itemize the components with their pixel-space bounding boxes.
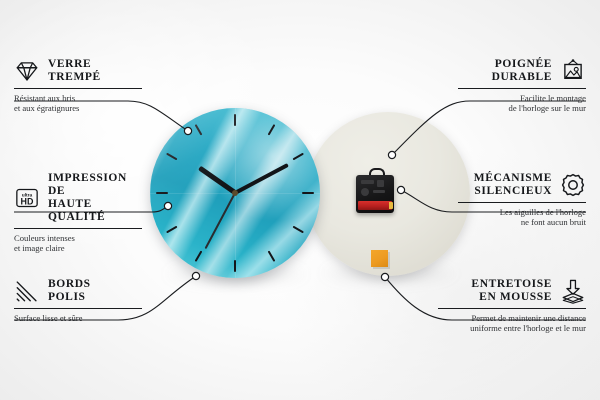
gear-icon: [560, 172, 586, 198]
callout-title: IMPRESSION DE HAUTE QUALITÉ: [48, 172, 142, 224]
callout-desc: Résistant aux bris et aux égratignures: [14, 93, 142, 114]
callout-entretoise-en-mousse: ENTRETOISE EN MOUSSE Permet de maintenir…: [438, 278, 586, 334]
svg-text:HD: HD: [21, 197, 34, 207]
hanging-picture-icon: [560, 58, 586, 84]
battery: [358, 201, 392, 210]
clock-tick: [156, 192, 168, 194]
clock-front-view: [150, 108, 320, 278]
callout-mecanisme-silencieux: MÉCANISME SILENCIEUX Les aiguilles de l'…: [458, 172, 586, 228]
callout-desc: Surface lisse et sûre: [14, 313, 142, 323]
callout-rule: [14, 228, 142, 229]
polished-edge-icon: [14, 278, 40, 304]
ultra-hd-icon: ultra HD: [14, 185, 40, 211]
callout-title: MÉCANISME SILENCIEUX: [474, 172, 552, 198]
callout-desc: Facilite le montage de l'horloge sur le …: [458, 93, 586, 114]
callout-desc: Permet de maintenir une distance uniform…: [438, 313, 586, 334]
callout-bords-polis: BORDS POLIS Surface lisse et sûre: [14, 278, 142, 323]
callout-desc: Couleurs intenses et image claire: [14, 233, 142, 254]
callout-poignee-durable: POIGNÉE DURABLE Facilite le montage de l…: [458, 58, 586, 114]
battery-terminal: [389, 202, 393, 209]
callout-rule: [458, 202, 586, 203]
callout-title: ENTRETOISE EN MOUSSE: [471, 278, 552, 304]
hand-center-cap: [232, 190, 238, 196]
callout-rule: [458, 88, 586, 89]
callout-impression-haute-qualite: ultra HD IMPRESSION DE HAUTE QUALITÉ Cou…: [14, 172, 142, 254]
foam-spacer: [371, 250, 388, 267]
clock-tick: [234, 114, 236, 126]
infographic-canvas: VERRE TREMPÉ Résistant aux bris et aux é…: [0, 0, 600, 400]
callout-rule: [14, 308, 142, 309]
clock-tick: [302, 192, 314, 194]
callout-verre-trempe: VERRE TREMPÉ Résistant aux bris et aux é…: [14, 58, 142, 114]
callout-rule: [438, 308, 586, 309]
diamond-icon: [14, 58, 40, 84]
callout-title: VERRE TREMPÉ: [48, 58, 101, 84]
foam-spacer-icon: [560, 278, 586, 304]
callout-desc: Les aiguilles de l'horloge ne font aucun…: [458, 207, 586, 228]
callout-rule: [14, 88, 142, 89]
callout-title: BORDS POLIS: [48, 278, 91, 304]
callout-title: POIGNÉE DURABLE: [492, 58, 552, 84]
clock-tick: [234, 260, 236, 272]
